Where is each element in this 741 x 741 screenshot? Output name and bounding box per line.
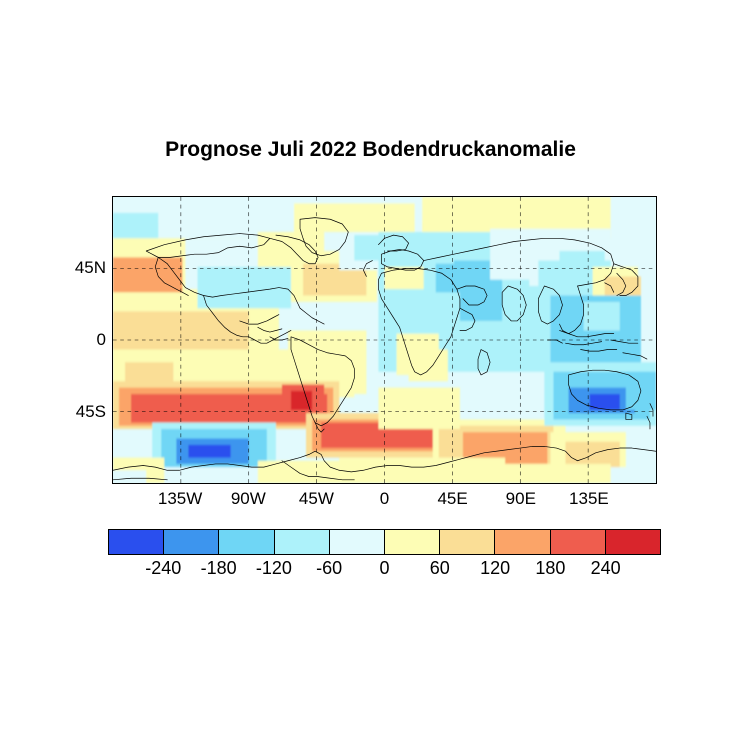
- y-tick-45s: 45S: [46, 402, 106, 422]
- figure-canvas: Prognose Juli 2022 Bodendruckanomalie: [0, 0, 741, 741]
- colorbar-band-5: [385, 530, 440, 554]
- page-title: Prognose Juli 2022 Bodendruckanomalie: [0, 138, 741, 162]
- colorbar-band-3: [275, 530, 330, 554]
- colorbar-tick-labels: -240 -180 -120 -60 0 60 120 180 240: [108, 558, 661, 584]
- colorbar-band-6: [440, 530, 495, 554]
- colorbar-band-8: [551, 530, 606, 554]
- colorbar-bands: [108, 529, 661, 555]
- y-tick-0: 0: [46, 330, 106, 350]
- anomaly-field: [113, 197, 656, 483]
- map-plot-area: [112, 196, 657, 484]
- y-tick-45n: 45N: [46, 258, 106, 278]
- colorbar-band-2: [219, 530, 274, 554]
- colorbar-band-7: [495, 530, 550, 554]
- x-tick-135e: 135E: [547, 489, 631, 509]
- x-axis-labels: 135W 90W 45W 0 45E 90E 135E: [112, 489, 657, 515]
- colorbar-band-0: [109, 530, 164, 554]
- colorbar-band-4: [330, 530, 385, 554]
- colorbar-band-9: [606, 530, 660, 554]
- cb-tick-240: 240: [566, 558, 646, 579]
- colorbar: [108, 529, 661, 555]
- colorbar-band-1: [164, 530, 219, 554]
- y-axis-labels: 45N 0 45S: [40, 196, 106, 484]
